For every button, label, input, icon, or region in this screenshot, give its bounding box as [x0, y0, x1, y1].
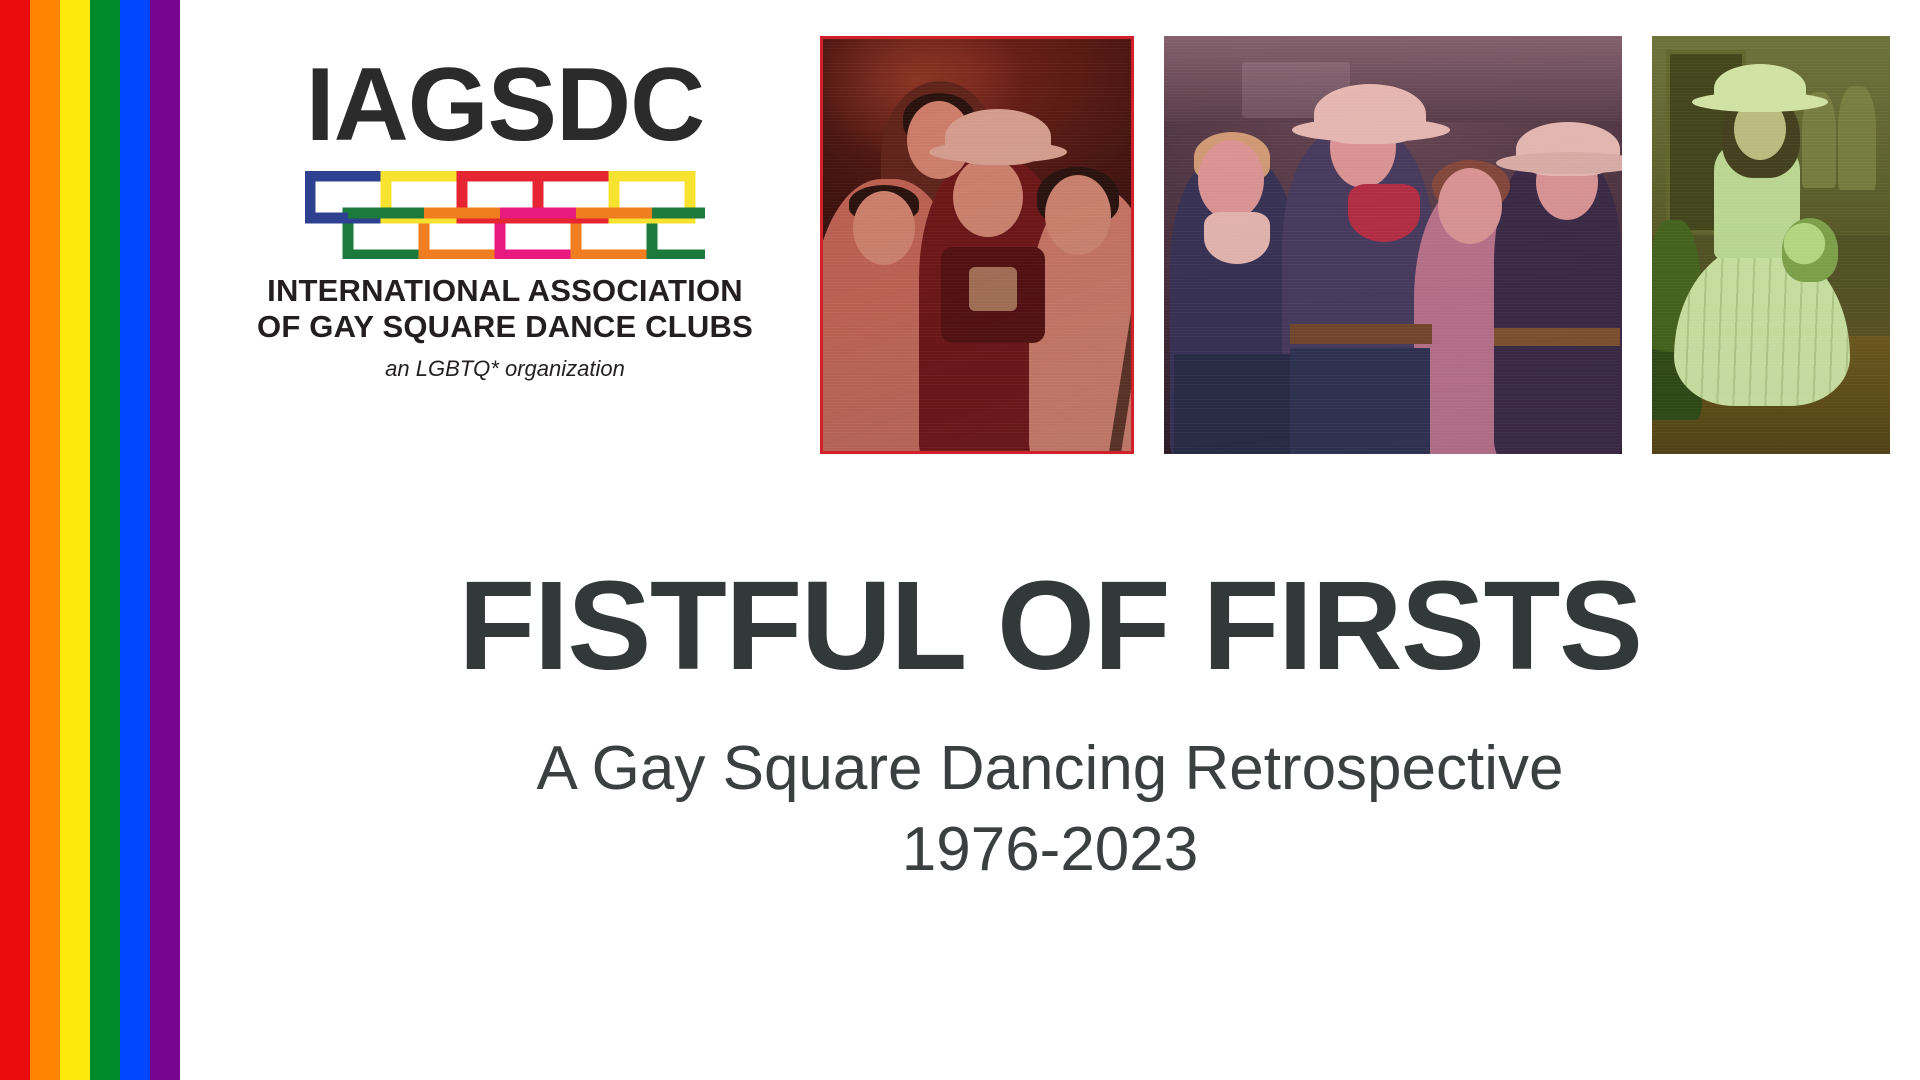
stripe-yellow: [60, 0, 90, 1080]
logo-wordmark: IAGSDC: [255, 55, 755, 157]
photo-strip: [820, 36, 1890, 376]
stripe-purple: [150, 0, 180, 1080]
organization-name: INTERNATIONAL ASSOCIATION OF GAY SQUARE …: [255, 273, 755, 346]
photo-four-men-cowboy-hat: [820, 36, 1134, 454]
subtitle: A Gay Square Dancing Retrospective: [180, 729, 1920, 810]
photo1-film-grain: [823, 39, 1131, 451]
organization-name-line2: OF GAY SQUARE DANCE CLUBS: [255, 309, 755, 346]
title-area: FISTFUL OF FIRSTS A Gay Square Dancing R…: [180, 560, 1920, 890]
stripe-red: [0, 0, 30, 1080]
logo-tagline: an LGBTQ* organization: [255, 356, 755, 382]
stripe-orange: [30, 0, 60, 1080]
subtitle-year-range: 1976-2023: [180, 810, 1920, 891]
organization-name-line1: INTERNATIONAL ASSOCIATION: [255, 273, 755, 310]
interlocking-squares-chain-icon: [255, 171, 755, 259]
photo2-film-grain: [1164, 36, 1622, 454]
stripe-blue: [120, 0, 150, 1080]
stripe-green: [90, 0, 120, 1080]
presentation-title-slide: IAGSDC: [0, 0, 1920, 1080]
page-title: FISTFUL OF FIRSTS: [180, 560, 1920, 691]
chain-svg: [305, 171, 705, 259]
pride-flag-stripes: [0, 0, 180, 1080]
photo-dancers-western-wear: [1164, 36, 1622, 454]
photo3-film-grain: [1652, 36, 1890, 454]
iagsdc-logo: IAGSDC: [255, 55, 755, 382]
photo-dancer-in-dress: [1652, 36, 1890, 454]
